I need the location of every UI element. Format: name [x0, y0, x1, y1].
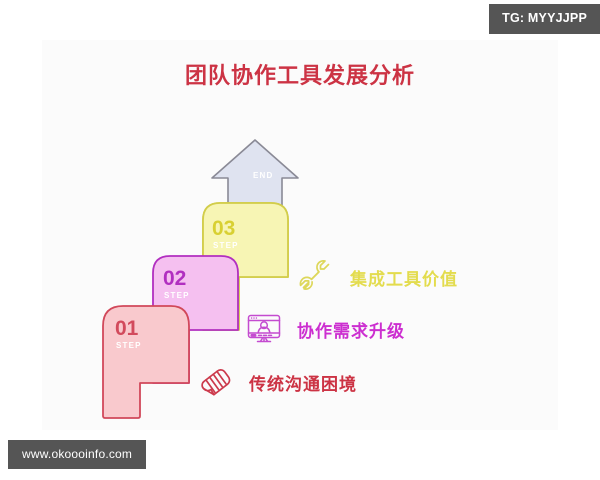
legend-label-03: 集成工具价值	[350, 265, 458, 290]
legend-item-02[interactable]: 协作需求升级	[245, 310, 405, 348]
page-title: 团队协作工具发展分析	[0, 58, 600, 90]
legend-item-03[interactable]: 集成工具价值	[298, 258, 458, 296]
slide-canvas: TG: MYYJJPP 团队协作工具发展分析 END 03 STEP	[0, 0, 600, 480]
step-block-01[interactable]	[103, 306, 189, 418]
monitor-person-icon	[245, 310, 283, 348]
wrench-icon	[298, 258, 336, 296]
legend-label-02: 协作需求升级	[297, 317, 405, 342]
site-watermark: www.okoooinfo.com	[8, 440, 146, 469]
legend-item-01[interactable]: 传统沟通困境	[197, 363, 357, 401]
legend-label-01: 传统沟通困境	[249, 370, 357, 395]
eraser-icon	[197, 363, 235, 401]
tg-watermark-badge: TG: MYYJJPP	[489, 4, 600, 34]
